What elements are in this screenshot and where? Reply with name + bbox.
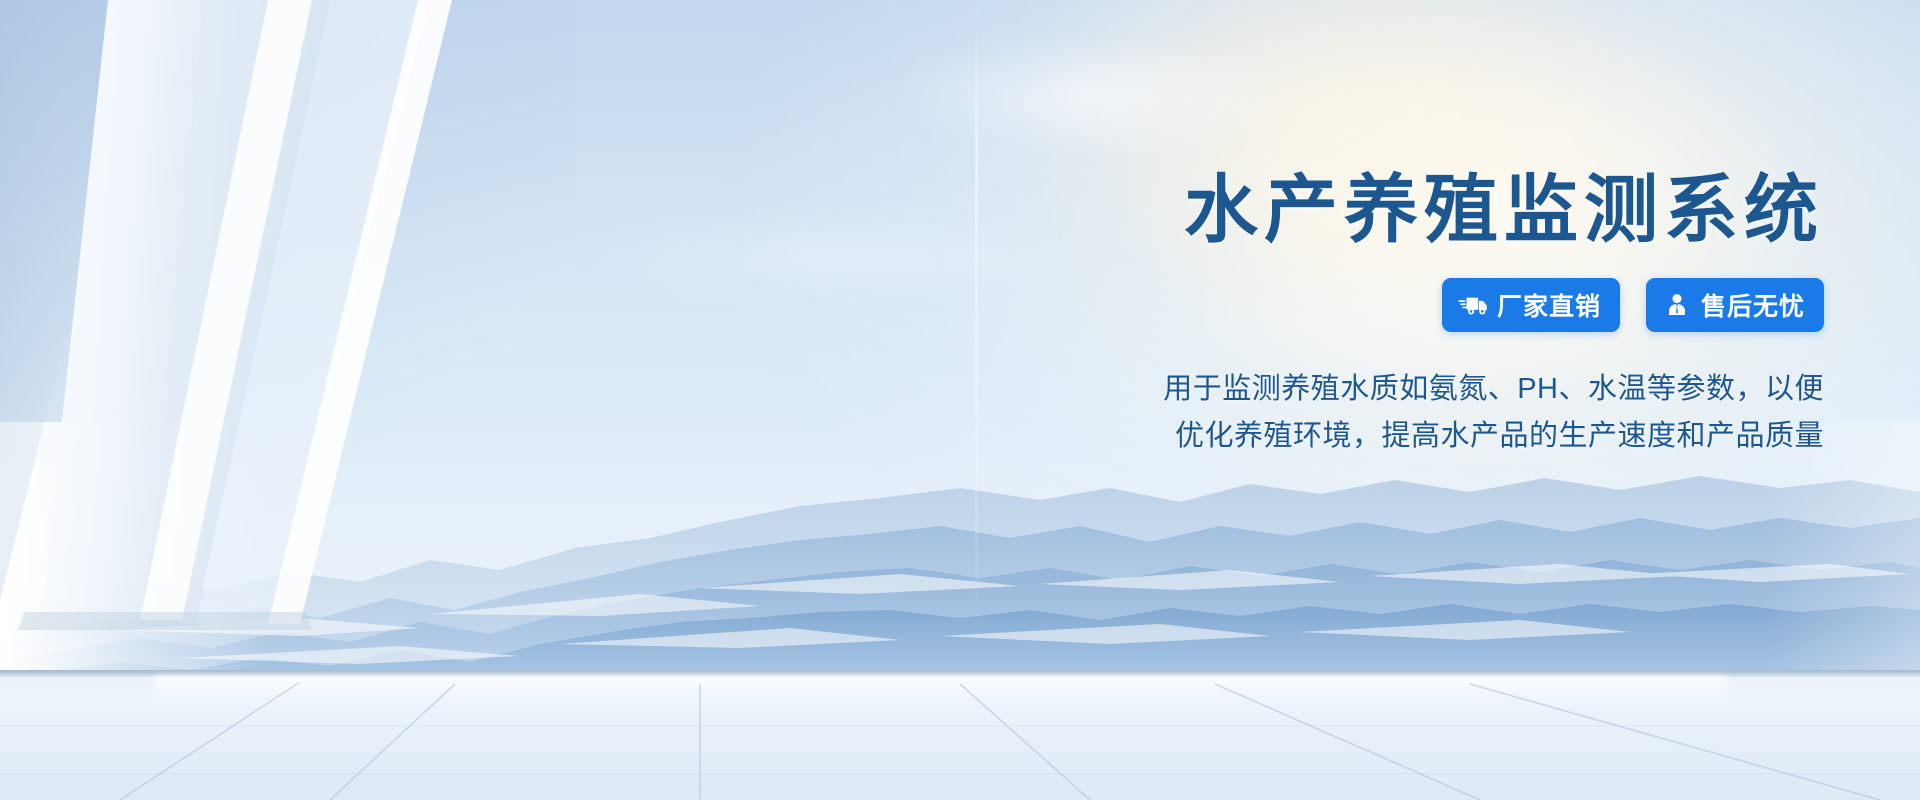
description-line-2: 优化养殖环境，提高水产品的生产速度和产品质量 (864, 413, 1824, 460)
glass-wall-structure (0, 0, 640, 740)
badge-label: 售后无忧 (1701, 287, 1805, 323)
page-title: 水产养殖监测系统 (864, 170, 1824, 250)
tiled-floor (0, 670, 1920, 800)
badge-after-sales[interactable]: 售后无忧 (1646, 278, 1824, 332)
badge-factory-direct[interactable]: 厂家直销 (1442, 278, 1620, 332)
floor-grid (0, 670, 1920, 800)
person-support-icon (1662, 292, 1692, 318)
banner-description: 用于监测养殖水质如氨氮、PH、水温等参数，以便 优化养殖环境，提高水产品的生产速… (864, 366, 1824, 460)
badge-group: 厂家直销 售后无忧 (864, 278, 1824, 332)
banner-content: 水产养殖监测系统 厂家直销 (864, 170, 1824, 460)
cloud-wisp (883, 32, 1305, 160)
description-line-1: 用于监测养殖水质如氨氮、PH、水温等参数，以便 (864, 366, 1824, 413)
aquaculture-monitoring-banner: 水产养殖监测系统 厂家直销 (0, 0, 1920, 800)
badge-label: 厂家直销 (1497, 287, 1601, 323)
truck-icon (1458, 292, 1488, 318)
